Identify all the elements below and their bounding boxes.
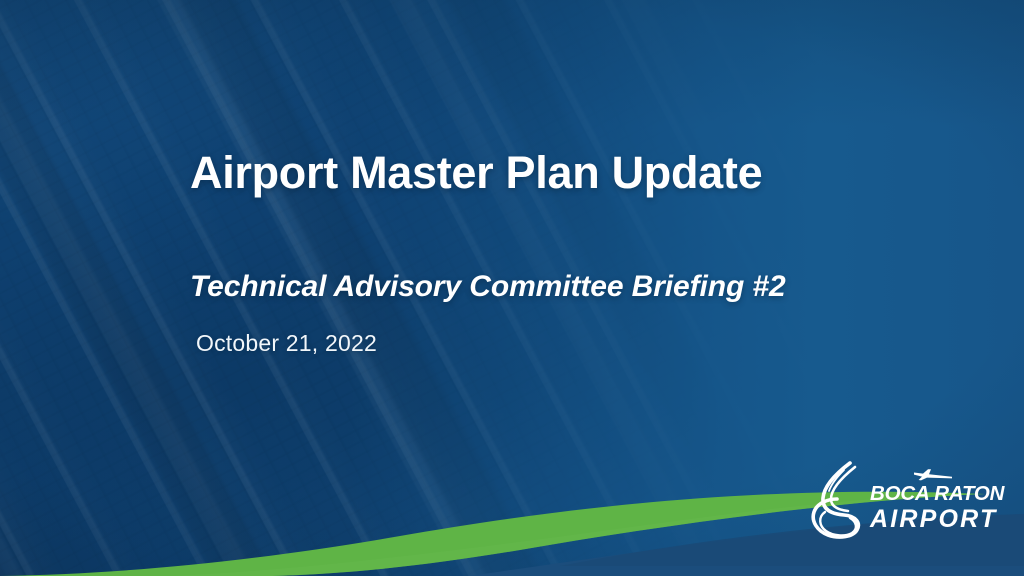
page-title: Airport Master Plan Update [190,148,910,198]
boca-raton-airport-logo: BOCA RATON AIRPORT [806,458,996,542]
title-slide: Airport Master Plan Update Technical Adv… [0,0,1024,576]
logo-line-boca-raton: BOCA RATON [870,484,1004,505]
slide-text-block: Airport Master Plan Update Technical Adv… [190,148,910,357]
airplane-icon [914,468,954,482]
logo-line-airport: AIRPORT [870,504,1004,532]
logo-wordmark: BOCA RATON AIRPORT [870,468,1004,533]
slide-date: October 21, 2022 [190,304,910,357]
boca-raton-airport-swoosh-mark [806,460,868,540]
slide-subtitle: Technical Advisory Committee Briefing #2 [190,198,910,305]
